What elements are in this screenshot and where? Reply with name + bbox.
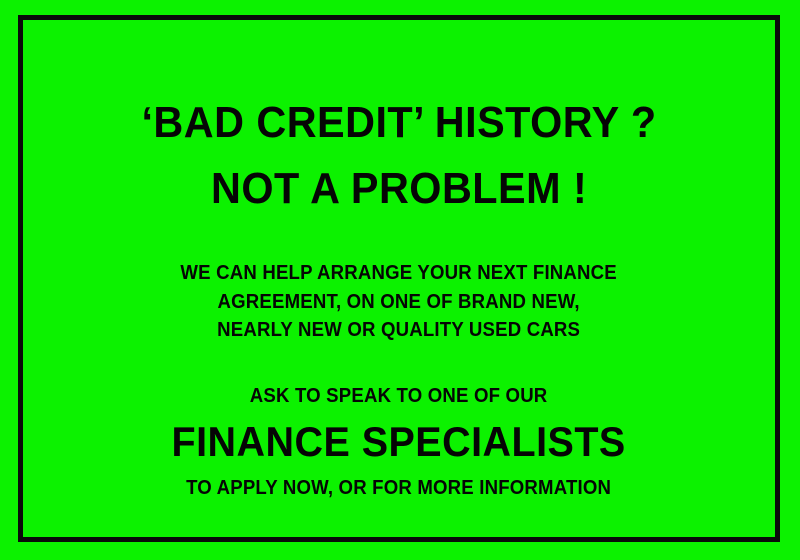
headline-not-a-problem: NOT A PROBLEM ! xyxy=(211,167,587,211)
body-line: WE CAN HELP ARRANGE YOUR NEXT FINANCE xyxy=(181,259,617,288)
body-line: AGREEMENT, ON ONE OF BRAND NEW, xyxy=(181,288,617,317)
headline-finance-specialists: FINANCE SPECIALISTS xyxy=(172,421,626,463)
subhead-ask-to-speak: ASK TO SPEAK TO ONE OF OUR xyxy=(174,385,623,407)
body-line: NEARLY NEW OR QUALITY USED CARS xyxy=(181,316,617,345)
headline-bad-credit-history: ‘BAD CREDIT’ HISTORY ? xyxy=(141,101,656,145)
footer-apply-now: TO APPLY NOW, OR FOR MORE INFORMATION xyxy=(174,477,623,499)
body-paragraph-finance-agreement: WE CAN HELP ARRANGE YOUR NEXT FINANCE AG… xyxy=(181,259,617,345)
call-to-action-block: ASK TO SPEAK TO ONE OF OUR FINANCE SPECI… xyxy=(157,385,640,499)
poster-canvas: ‘BAD CREDIT’ HISTORY ? NOT A PROBLEM ! W… xyxy=(0,0,800,560)
poster-content: ‘BAD CREDIT’ HISTORY ? NOT A PROBLEM ! W… xyxy=(24,21,774,536)
